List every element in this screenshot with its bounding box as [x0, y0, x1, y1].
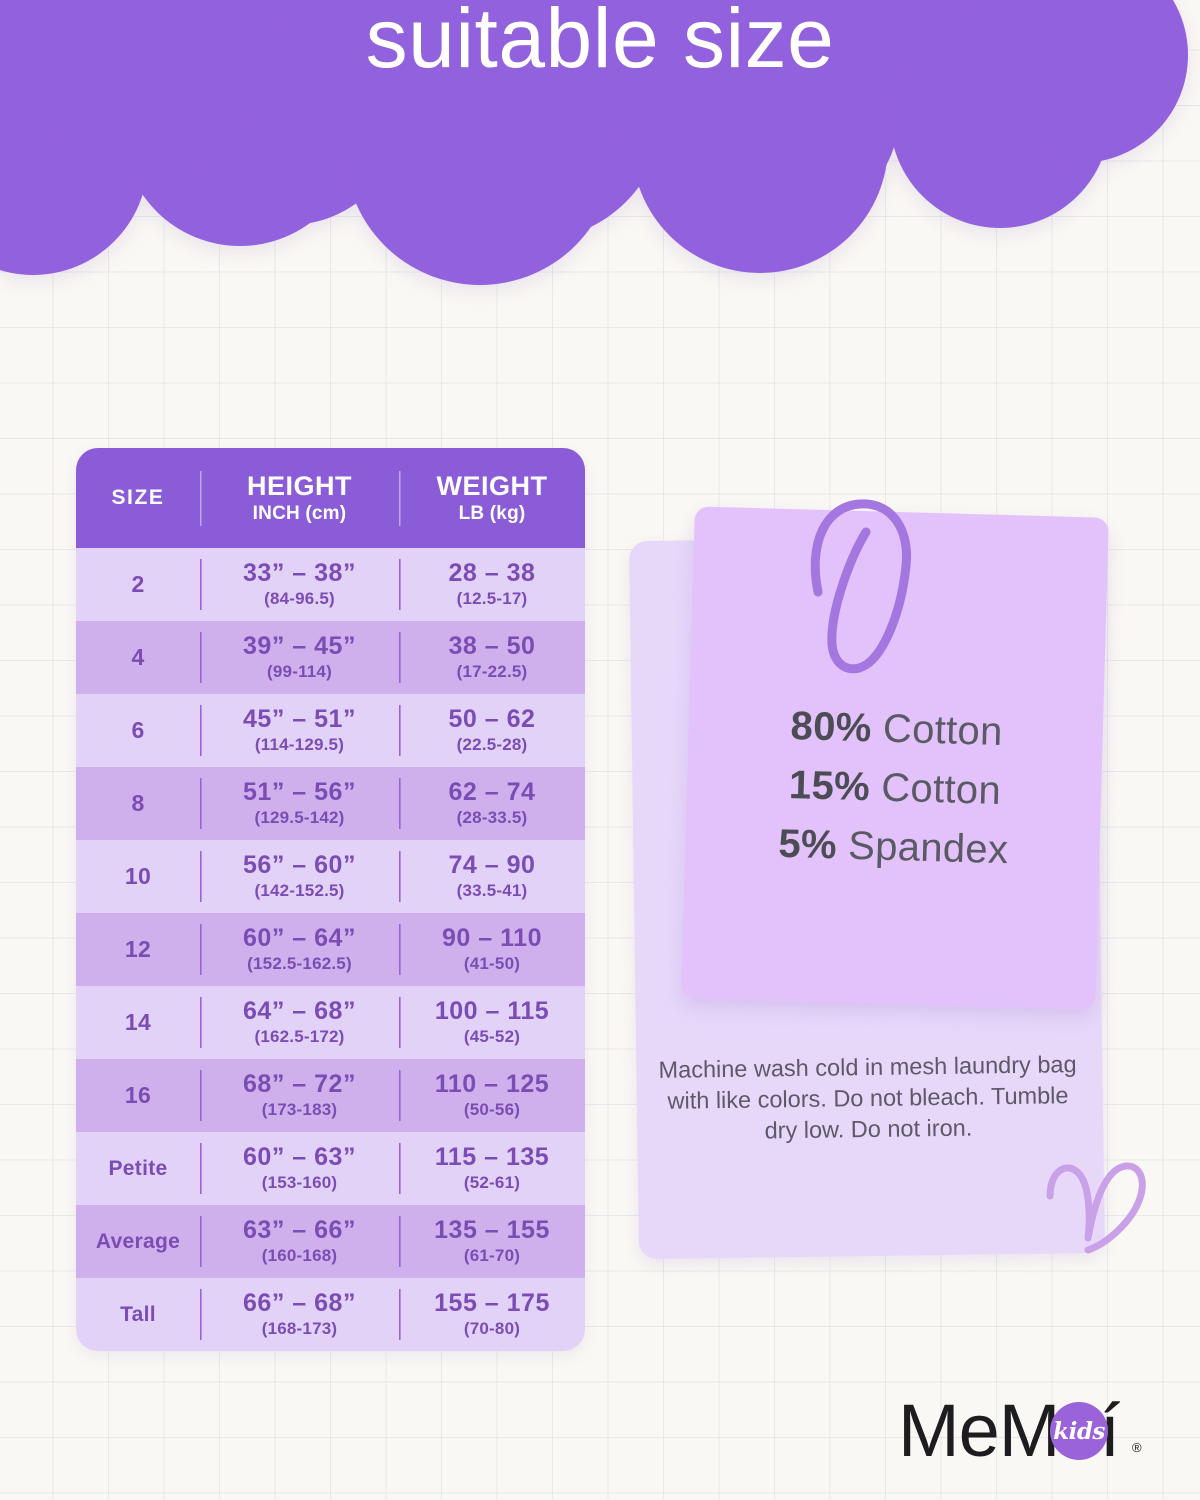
- height-cm: (142-152.5): [200, 880, 399, 902]
- weight-kg: (41-50): [399, 953, 585, 975]
- size-value: 10: [76, 863, 200, 890]
- cell-height: 51” – 56”(129.5-142): [200, 778, 399, 829]
- table-row: 1668” – 72”(173-183)110 – 125(50-56): [76, 1059, 585, 1132]
- table-row: 1260” – 64”(152.5-162.5)90 – 110(41-50): [76, 913, 585, 986]
- height-inches: 64” – 68”: [200, 997, 399, 1026]
- table-row: 645” – 51”(114-129.5)50 – 62(22.5-28): [76, 694, 585, 767]
- cell-height: 63” – 66”(160-168): [200, 1216, 399, 1267]
- heart-doodle-icon: [1044, 1152, 1154, 1260]
- table-row: Average63” – 66”(160-168)135 – 155(61-70…: [76, 1205, 585, 1278]
- column-header-height-main: HEIGHT: [200, 471, 399, 502]
- composition-percent: 15%: [788, 763, 870, 809]
- cell-weight: 90 – 110(41-50): [399, 924, 585, 975]
- cell-size: 8: [76, 790, 200, 817]
- cell-size: Petite: [76, 1157, 200, 1181]
- size-value: 12: [76, 936, 200, 963]
- cell-size: Tall: [76, 1303, 200, 1327]
- height-inches: 51” – 56”: [200, 778, 399, 807]
- weight-kg: (22.5-28): [399, 734, 585, 756]
- weight-lb: 115 – 135: [399, 1143, 585, 1172]
- weight-kg: (52-61): [399, 1172, 585, 1194]
- cloud-shape: [0, 0, 1200, 400]
- size-value: Average: [76, 1230, 200, 1254]
- table-row: 1464” – 68”(162.5-172)100 – 115(45-52): [76, 986, 585, 1059]
- cell-size: 4: [76, 644, 200, 671]
- height-cm: (153-160): [200, 1172, 399, 1194]
- size-value: Petite: [76, 1157, 200, 1181]
- height-cm: (173-183): [200, 1099, 399, 1121]
- page-title-line-2: suitable size: [0, 0, 1200, 86]
- size-value: 6: [76, 717, 200, 744]
- size-value: Tall: [76, 1303, 200, 1327]
- page-title: Find your suitable size: [0, 0, 1200, 86]
- cell-weight: 50 – 62(22.5-28): [399, 705, 585, 756]
- cell-weight: 155 – 175(70-80): [399, 1289, 585, 1340]
- cell-height: 33” – 38”(84-96.5): [200, 559, 399, 610]
- weight-lb: 100 – 115: [399, 997, 585, 1026]
- height-inches: 33” – 38”: [200, 559, 399, 588]
- table-row: Petite60” – 63”(153-160)115 – 135(52-61): [76, 1132, 585, 1205]
- height-cm: (84-96.5): [200, 588, 399, 610]
- size-value: 8: [76, 790, 200, 817]
- weight-kg: (28-33.5): [399, 807, 585, 829]
- table-row: 851” – 56”(129.5-142)62 – 74(28-33.5): [76, 767, 585, 840]
- cell-height: 39” – 45”(99-114): [200, 632, 399, 683]
- cell-weight: 74 – 90(33.5-41): [399, 851, 585, 902]
- height-cm: (160-168): [200, 1245, 399, 1267]
- cell-height: 68” – 72”(173-183): [200, 1070, 399, 1121]
- cell-weight: 100 – 115(45-52): [399, 997, 585, 1048]
- cloud-header-banner: Find your suitable size: [0, 0, 1200, 400]
- height-inches: 56” – 60”: [200, 851, 399, 880]
- column-header-weight-main: WEIGHT: [399, 471, 585, 502]
- table-row: Tall66” – 68”(168-173)155 – 175(70-80): [76, 1278, 585, 1351]
- cell-height: 66” – 68”(168-173): [200, 1289, 399, 1340]
- composition-material: Cotton: [871, 706, 1003, 754]
- cell-size: 2: [76, 571, 200, 598]
- size-value: 2: [76, 571, 200, 598]
- column-header-height: HEIGHT INCH (cm): [200, 471, 399, 526]
- cell-weight: 28 – 38(12.5-17): [399, 559, 585, 610]
- weight-lb: 74 – 90: [399, 851, 585, 880]
- weight-lb: 155 – 175: [399, 1289, 585, 1318]
- table-body: 233” – 38”(84-96.5)28 – 38(12.5-17)439” …: [76, 548, 585, 1351]
- height-cm: (152.5-162.5): [200, 953, 399, 975]
- column-header-height-sub: INCH (cm): [200, 502, 399, 526]
- weight-lb: 135 – 155: [399, 1216, 585, 1245]
- paperclip-icon: [788, 484, 958, 684]
- brand-logo: MeMoí kids ®: [898, 1388, 1148, 1474]
- size-value: 14: [76, 1009, 200, 1036]
- cell-height: 60” – 64”(152.5-162.5): [200, 924, 399, 975]
- weight-kg: (12.5-17): [399, 588, 585, 610]
- height-inches: 45” – 51”: [200, 705, 399, 734]
- cell-height: 64” – 68”(162.5-172): [200, 997, 399, 1048]
- cell-height: 45” – 51”(114-129.5): [200, 705, 399, 756]
- column-header-weight-sub: LB (kg): [399, 502, 585, 526]
- cell-weight: 135 – 155(61-70): [399, 1216, 585, 1267]
- height-inches: 66” – 68”: [200, 1289, 399, 1318]
- height-cm: (99-114): [200, 661, 399, 683]
- cell-weight: 115 – 135(52-61): [399, 1143, 585, 1194]
- column-header-size: SIZE: [76, 486, 200, 510]
- weight-kg: (70-80): [399, 1318, 585, 1340]
- weight-kg: (17-22.5): [399, 661, 585, 683]
- care-instructions-text: Machine wash cold in mesh laundry bag wi…: [651, 1049, 1084, 1148]
- weight-lb: 38 – 50: [399, 632, 585, 661]
- cell-size: Average: [76, 1230, 200, 1254]
- size-value: 16: [76, 1082, 200, 1109]
- composition-material: Cotton: [869, 765, 1001, 813]
- column-header-weight: WEIGHT LB (kg): [399, 471, 585, 526]
- composition-percent: 80%: [790, 704, 872, 750]
- height-cm: (129.5-142): [200, 807, 399, 829]
- table-row: 233” – 38”(84-96.5)28 – 38(12.5-17): [76, 548, 585, 621]
- composition-percent: 5%: [778, 822, 838, 868]
- table-row: 439” – 45”(99-114)38 – 50(17-22.5): [76, 621, 585, 694]
- weight-lb: 110 – 125: [399, 1070, 585, 1099]
- cell-weight: 62 – 74(28-33.5): [399, 778, 585, 829]
- cell-size: 14: [76, 1009, 200, 1036]
- weight-kg: (61-70): [399, 1245, 585, 1267]
- weight-kg: (45-52): [399, 1026, 585, 1048]
- cell-height: 60” – 63”(153-160): [200, 1143, 399, 1194]
- weight-lb: 62 – 74: [399, 778, 585, 807]
- table-header-row: SIZE HEIGHT INCH (cm) WEIGHT LB (kg): [76, 448, 585, 548]
- cell-size: 12: [76, 936, 200, 963]
- fabric-composition-list: 80% Cotton15% Cotton5% Spandex: [686, 694, 1105, 882]
- table-row: 1056” – 60”(142-152.5)74 – 90(33.5-41): [76, 840, 585, 913]
- height-inches: 63” – 66”: [200, 1216, 399, 1245]
- weight-lb: 50 – 62: [399, 705, 585, 734]
- size-chart-table: SIZE HEIGHT INCH (cm) WEIGHT LB (kg) 233…: [76, 448, 585, 1351]
- weight-kg: (50-56): [399, 1099, 585, 1121]
- height-inches: 60” – 63”: [200, 1143, 399, 1172]
- composition-line: 5% Spandex: [686, 812, 1101, 883]
- height-cm: (114-129.5): [200, 734, 399, 756]
- height-inches: 39” – 45”: [200, 632, 399, 661]
- kids-badge: kids: [1050, 1402, 1108, 1460]
- composition-material: Spandex: [836, 823, 1009, 872]
- cell-size: 10: [76, 863, 200, 890]
- weight-lb: 28 – 38: [399, 559, 585, 588]
- cell-weight: 38 – 50(17-22.5): [399, 632, 585, 683]
- weight-kg: (33.5-41): [399, 880, 585, 902]
- registered-trademark-symbol: ®: [1132, 1440, 1142, 1455]
- size-value: 4: [76, 644, 200, 671]
- cell-size: 16: [76, 1082, 200, 1109]
- weight-lb: 90 – 110: [399, 924, 585, 953]
- column-header-size-label: SIZE: [76, 486, 200, 510]
- cell-height: 56” – 60”(142-152.5): [200, 851, 399, 902]
- cell-size: 6: [76, 717, 200, 744]
- height-cm: (162.5-172): [200, 1026, 399, 1048]
- height-cm: (168-173): [200, 1318, 399, 1340]
- height-inches: 60” – 64”: [200, 924, 399, 953]
- cell-weight: 110 – 125(50-56): [399, 1070, 585, 1121]
- height-inches: 68” – 72”: [200, 1070, 399, 1099]
